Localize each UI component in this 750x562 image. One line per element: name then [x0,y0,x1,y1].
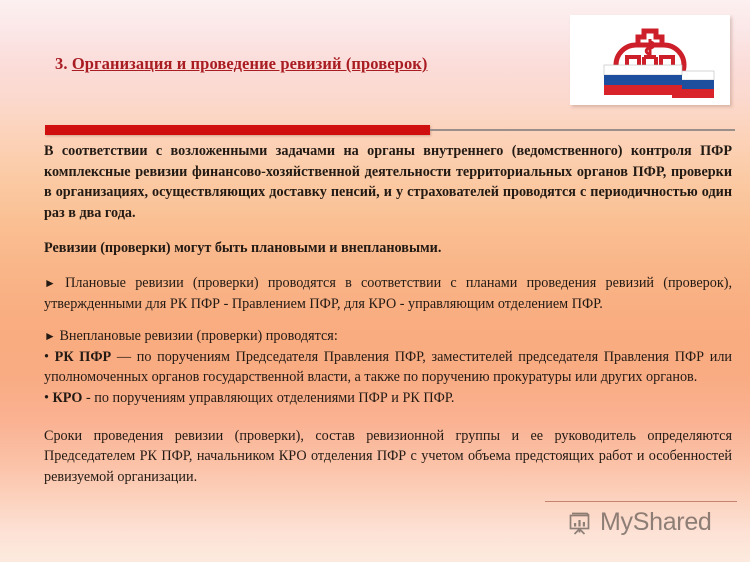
pfr-emblem-icon [570,15,730,105]
bullet-marker-icon: • [44,349,49,365]
bullet-marker-icon: • [44,390,49,406]
slide-title-text: Организация и проведение ревизий (провер… [72,54,428,73]
paragraph-planned: ► Плановые ревизии (проверки) проводятся… [44,273,732,314]
divider [45,124,735,135]
arrow-marker-icon: ► [44,329,56,343]
paragraph-intro: В соответствии с возложенными задачами н… [44,141,732,223]
paragraph-unplanned-kro-text: - по поручениям управляющих отделениями … [82,390,454,406]
paragraph-unplanned-heading-text: Внеплановые ревизии (проверки) проводятс… [59,328,337,344]
paragraph-types: Ревизии (проверки) могут быть плановыми … [44,238,732,259]
divider-red-bar [45,125,430,135]
divider-rule [430,129,735,131]
myshared-watermark: MyShared [566,508,712,537]
paragraph-unplanned-kro: • КРО - по поручениям управляющих отделе… [44,388,732,409]
presentation-slide: 3. Организация и проведение ревизий (про… [0,0,750,562]
paragraph-unplanned-heading: ► Внеплановые ревизии (проверки) проводя… [44,326,732,347]
paragraph-planned-text: Плановые ревизии (проверки) проводятся в… [44,275,732,312]
paragraph-terms: Сроки проведения ревизии (проверки), сос… [44,426,732,488]
paragraph-unplanned-rk-text: — по поручениям Председателя Правления П… [44,349,732,386]
presentation-board-icon [566,509,593,536]
paragraph-unplanned-kro-lead: КРО [53,390,83,406]
paragraph-unplanned-rk: • РК ПФР — по поручениям Председателя Пр… [44,347,732,388]
slide-title-number: 3. [55,54,68,73]
watermark-rule [545,501,737,502]
arrow-marker-icon: ► [44,276,56,290]
slide-title: 3. Организация и проведение ревизий (про… [55,54,428,74]
slide-body: В соответствии с возложенными задачами н… [44,141,732,487]
russian-flag-large [604,65,682,95]
watermark-text: MyShared [600,508,712,537]
pfr-logo [570,15,730,105]
paragraph-unplanned-rk-lead: РК ПФР [55,349,112,365]
